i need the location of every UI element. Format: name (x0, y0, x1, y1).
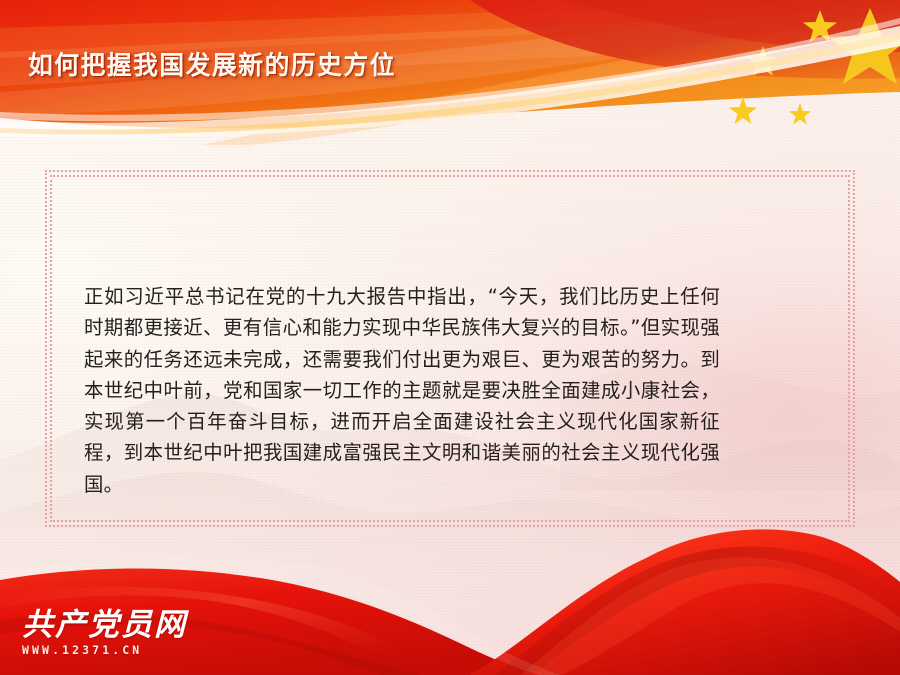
body-paragraph: 正如习近平总书记在党的十九大报告中指出，“今天，我们比历史上任何时期都更接近、更… (84, 281, 720, 500)
poster-slide: 如何把握我国发展新的历史方位 正如习近平总书记在党的十九大报告中指出，“今天，我… (0, 0, 900, 675)
page-title: 如何把握我国发展新的历史方位 (28, 51, 396, 81)
logo-chinese-name: 共产党员网 (22, 608, 222, 642)
logo-website-url: WWW.12371.CN (22, 644, 222, 657)
header-banner: 如何把握我国发展新的历史方位 (0, 0, 900, 145)
site-logo[interactable]: 共产党员网 WWW.12371.CN (22, 608, 222, 657)
